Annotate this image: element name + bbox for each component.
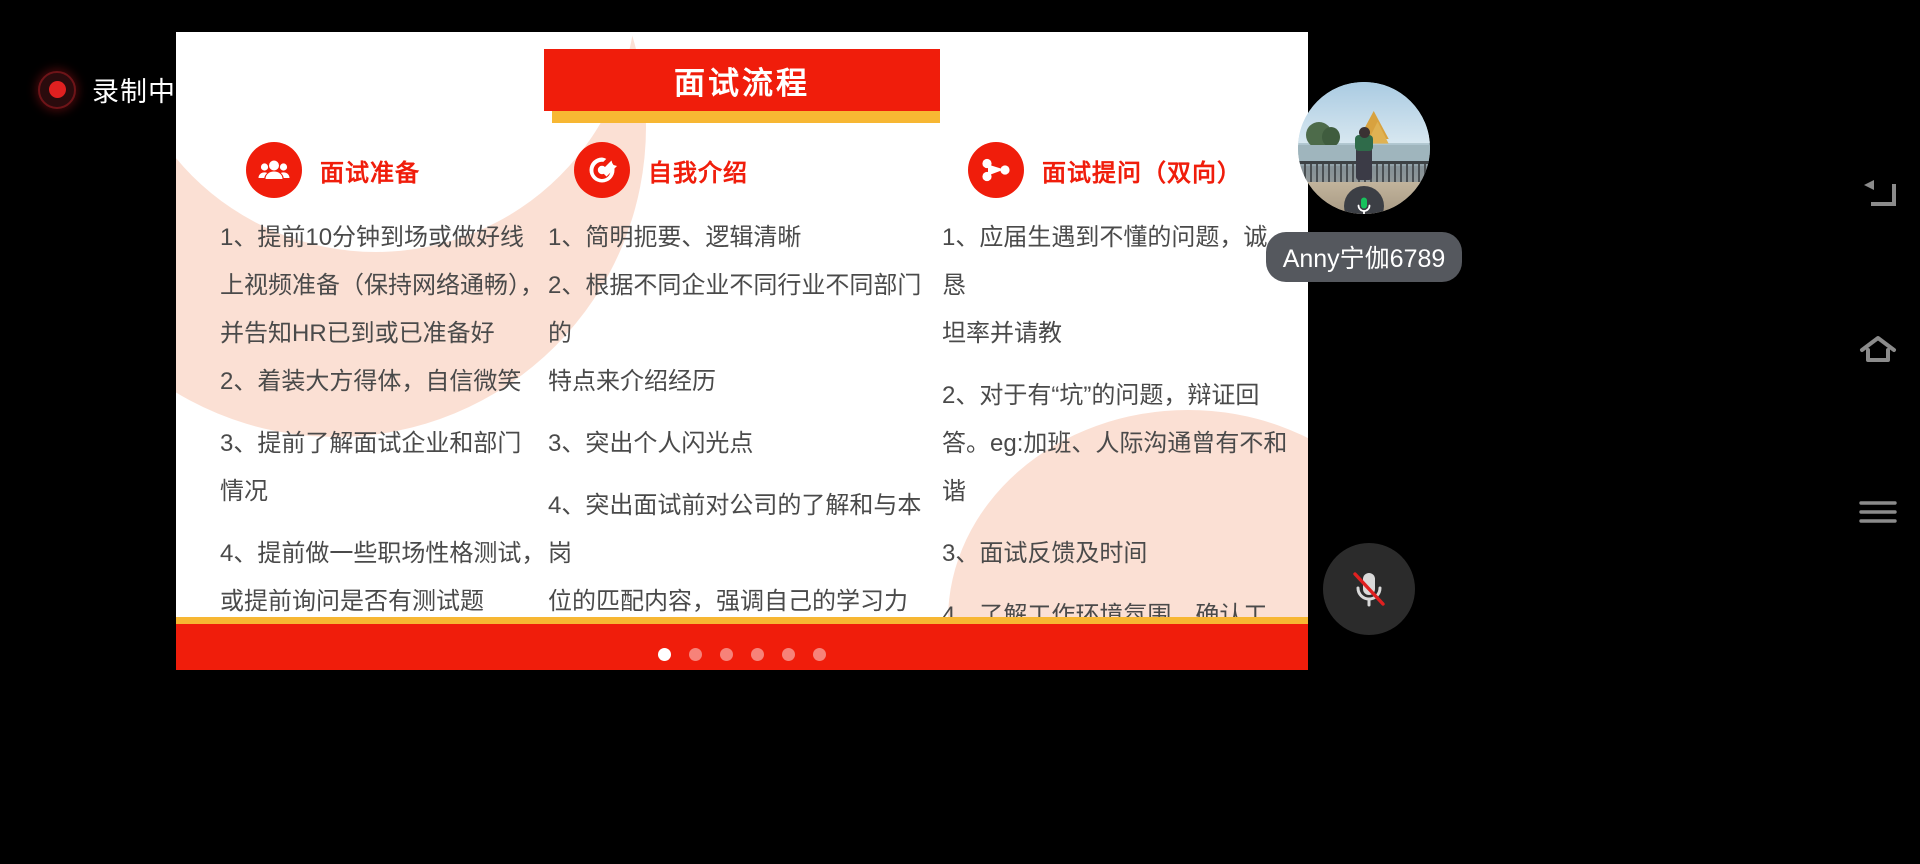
shared-slide[interactable]: 面试流程 面试准备 1、提前10分钟到场或做 — [176, 32, 1308, 670]
column-title: 自我介绍 — [648, 153, 748, 188]
slide-title-block: 面试流程 — [544, 49, 940, 111]
share-nodes-icon — [968, 142, 1024, 198]
column-line: 4、突出面试前对公司的了解和与本岗 — [548, 482, 926, 578]
slide-column-interview-questions: 面试提问（双向） 1、应届生遇到不懂的问题，诚恳 坦率并请教 2、对于有“坑”的… — [938, 142, 1288, 670]
column-line: 1、应届生遇到不懂的问题，诚恳 — [942, 214, 1288, 310]
target-dart-icon — [574, 142, 630, 198]
slide-footer-bar — [176, 624, 1308, 670]
column-header: 面试准备 — [246, 142, 556, 198]
column-header: 自我介绍 — [574, 142, 926, 198]
avatar-tree-small — [1322, 127, 1340, 147]
slide-title-accent-bar — [552, 111, 940, 123]
back-arrow-icon[interactable] — [1850, 168, 1906, 224]
column-line: 坦率并请教 — [942, 310, 1288, 358]
slide-column-self-introduction: 自我介绍 1、简明扼要、逻辑清晰 2、根据不同企业不同行业不同部门的 特点来介绍… — [544, 142, 926, 670]
slide-column-interview-preparation: 面试准备 1、提前10分钟到场或做好线 上视频准备（保持网络通畅）， 并告知HR… — [216, 142, 556, 670]
recording-indicator: 录制中 — [38, 70, 176, 109]
column-line: 3、提前了解面试企业和部门 — [220, 420, 556, 468]
column-line: 答。eg:加班、人际沟通曾有不和谐 — [942, 420, 1288, 516]
column-title: 面试准备 — [320, 153, 420, 188]
column-line: 4、提前做一些职场性格测试， — [220, 530, 556, 578]
column-line: 2、根据不同企业不同行业不同部门的 — [548, 262, 926, 358]
page-dot[interactable] — [720, 648, 733, 661]
column-line: 2、对于有“坑”的问题，辩证回 — [942, 372, 1288, 420]
column-line: 并告知HR已到或已准备好 — [220, 310, 556, 358]
android-navigation-bar — [1836, 0, 1920, 864]
page-dot[interactable] — [751, 648, 764, 661]
recording-label: 录制中 — [92, 70, 176, 109]
column-line: 2、着装大方得体，自信微笑 — [220, 358, 556, 406]
page-dot[interactable] — [813, 648, 826, 661]
column-line: 3、突出个人闪光点 — [548, 420, 926, 468]
column-line: 情况 — [220, 468, 556, 516]
home-icon[interactable] — [1850, 322, 1906, 378]
column-body: 1、应届生遇到不懂的问题，诚恳 坦率并请教 2、对于有“坑”的问题，辩证回 答。… — [938, 214, 1288, 670]
record-dot-inner — [49, 81, 66, 98]
page-dot[interactable] — [782, 648, 795, 661]
record-dot-icon — [38, 71, 76, 109]
column-body: 1、简明扼要、逻辑清晰 2、根据不同企业不同行业不同部门的 特点来介绍经历 3、… — [544, 214, 926, 670]
participant-tile[interactable]: Anny宁伽6789 — [1298, 82, 1430, 282]
column-line: 上视频准备（保持网络通畅）， — [220, 262, 556, 310]
participant-name-tag: Anny宁伽6789 — [1266, 232, 1463, 282]
pagination-dots[interactable] — [176, 648, 1308, 661]
column-body: 1、提前10分钟到场或做好线 上视频准备（保持网络通畅）， 并告知HR已到或已准… — [216, 214, 556, 670]
column-title: 面试提问（双向） — [1042, 153, 1242, 188]
column-line: 1、提前10分钟到场或做好线 — [220, 214, 556, 262]
column-line: 特点来介绍经历 — [548, 358, 926, 406]
microphone-muted-icon[interactable] — [1323, 543, 1415, 635]
column-line: 1、简明扼要、逻辑清晰 — [548, 214, 926, 262]
avatar[interactable] — [1298, 82, 1430, 214]
slide-title-bar: 面试流程 — [544, 49, 940, 111]
people-group-icon — [246, 142, 302, 198]
column-line: 3、面试反馈及时间 — [942, 530, 1288, 578]
slide-columns: 面试准备 1、提前10分钟到场或做好线 上视频准备（保持网络通畅）， 并告知HR… — [176, 32, 1308, 670]
page-title: 面试流程 — [674, 58, 810, 103]
page-dot[interactable] — [689, 648, 702, 661]
slide-footer-accent — [176, 617, 1308, 624]
hamburger-menu-icon[interactable] — [1850, 484, 1906, 540]
column-header: 面试提问（双向） — [968, 142, 1288, 198]
page-dot[interactable] — [658, 648, 671, 661]
